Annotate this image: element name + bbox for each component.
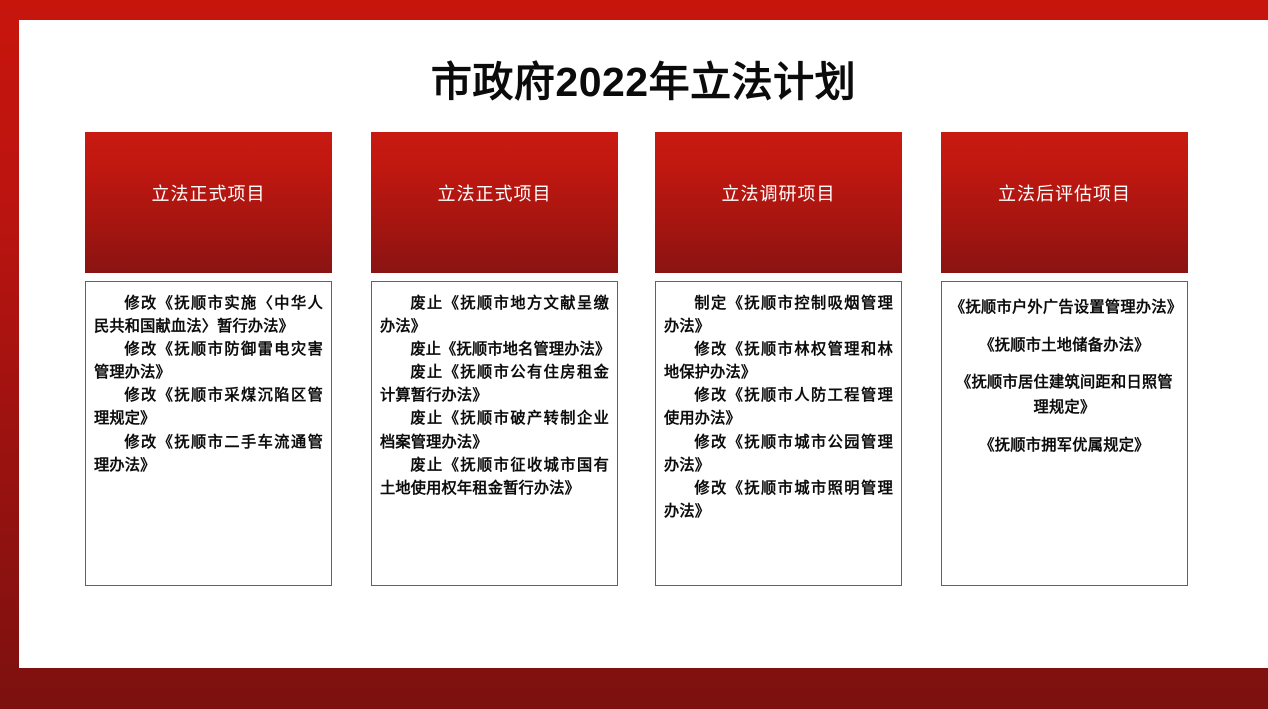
column-header-label-2: 立法正式项目 xyxy=(371,180,618,206)
list-item: 废止《抚顺市破产转制企业档案管理办法》 xyxy=(380,407,609,453)
column-body-1: 修改《抚顺市实施〈中华人民共和国献血法〉暂行办法》 修改《抚顺市防御雷电灾害管理… xyxy=(85,281,332,586)
list-item: 制定《抚顺市控制吸烟管理办法》 xyxy=(664,292,893,338)
column-body-3: 制定《抚顺市控制吸烟管理办法》 修改《抚顺市林权管理和林地保护办法》 修改《抚顺… xyxy=(655,281,902,586)
column-body-4: 《抚顺市户外广告设置管理办法》 《抚顺市土地储备办法》 《抚顺市居住建筑间距和日… xyxy=(941,281,1188,586)
column-post-legislation-evaluation: 立法后评估项目 《抚顺市户外广告设置管理办法》 《抚顺市土地储备办法》 《抚顺市… xyxy=(941,132,1188,598)
list-item: 修改《抚顺市人防工程管理使用办法》 xyxy=(664,384,893,430)
column-header-1: 立法正式项目 xyxy=(85,132,332,273)
list-item: 修改《抚顺市防御雷电灾害管理办法》 xyxy=(94,338,323,384)
list-item: 《抚顺市居住建筑间距和日照管理规定》 xyxy=(950,371,1179,420)
list-item: 废止《抚顺市地方文献呈缴办法》 xyxy=(380,292,609,338)
list-item: 修改《抚顺市林权管理和林地保护办法》 xyxy=(664,338,893,384)
column-header-label-1: 立法正式项目 xyxy=(85,180,332,206)
list-item: 修改《抚顺市城市公园管理办法》 xyxy=(664,431,893,477)
list-item: 《抚顺市土地储备办法》 xyxy=(950,334,1179,359)
column-legislation-research: 立法调研项目 制定《抚顺市控制吸烟管理办法》 修改《抚顺市林权管理和林地保护办法… xyxy=(655,132,902,598)
slide-frame: 市政府2022年立法计划 立法正式项目 修改《抚顺市实施〈中华人民共和国献血法〉… xyxy=(0,0,1268,709)
columns-container: 立法正式项目 修改《抚顺市实施〈中华人民共和国献血法〉暂行办法》 修改《抚顺市防… xyxy=(85,132,1254,598)
column-body-2: 废止《抚顺市地方文献呈缴办法》 废止《抚顺市地名管理办法》 废止《抚顺市公有住房… xyxy=(371,281,618,586)
column-header-3: 立法调研项目 xyxy=(655,132,902,273)
list-item: 《抚顺市拥军优属规定》 xyxy=(950,434,1179,459)
list-item: 废止《抚顺市地名管理办法》 xyxy=(380,338,609,361)
column-legislation-formal-2: 立法正式项目 废止《抚顺市地方文献呈缴办法》 废止《抚顺市地名管理办法》 废止《… xyxy=(371,132,618,598)
list-item: 修改《抚顺市城市照明管理办法》 xyxy=(664,477,893,523)
list-item: 修改《抚顺市采煤沉陷区管理规定》 xyxy=(94,384,323,430)
column-header-2: 立法正式项目 xyxy=(371,132,618,273)
list-item: 废止《抚顺市公有住房租金计算暂行办法》 xyxy=(380,361,609,407)
slide-content-area: 市政府2022年立法计划 立法正式项目 修改《抚顺市实施〈中华人民共和国献血法〉… xyxy=(19,20,1268,668)
list-item: 废止《抚顺市征收城市国有土地使用权年租金暂行办法》 xyxy=(380,454,609,500)
column-legislation-formal-1: 立法正式项目 修改《抚顺市实施〈中华人民共和国献血法〉暂行办法》 修改《抚顺市防… xyxy=(85,132,332,598)
page-title: 市政府2022年立法计划 xyxy=(19,48,1268,108)
list-item: 《抚顺市户外广告设置管理办法》 xyxy=(950,296,1179,321)
list-item: 修改《抚顺市实施〈中华人民共和国献血法〉暂行办法》 xyxy=(94,292,323,338)
column-header-4: 立法后评估项目 xyxy=(941,132,1188,273)
list-item: 修改《抚顺市二手车流通管理办法》 xyxy=(94,431,323,477)
column-header-label-4: 立法后评估项目 xyxy=(941,180,1188,206)
column-header-label-3: 立法调研项目 xyxy=(655,180,902,206)
